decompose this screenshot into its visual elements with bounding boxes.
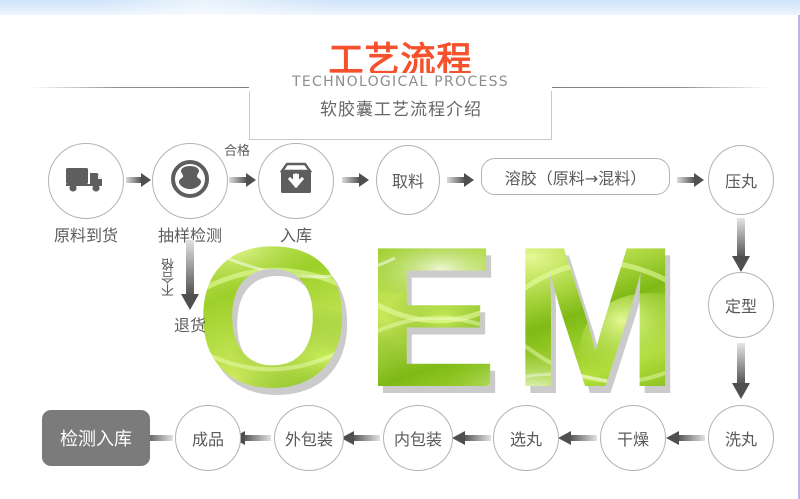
node-inspection-storage[interactable]: 检测入库 <box>42 410 150 466</box>
arrow-right-3 <box>342 172 370 188</box>
node-finished-product[interactable]: 成品 <box>175 405 241 471</box>
label-unqualified: 不合格 <box>160 258 179 297</box>
truck-icon <box>65 164 107 198</box>
node-inner-packaging[interactable]: 内包装 <box>383 405 453 471</box>
page-title-backdrop: 工艺流程 <box>249 32 552 76</box>
node-label-shaping: 定型 <box>725 293 757 317</box>
caption-raw-material-arrival: 原料到货 <box>28 222 144 246</box>
node-label-material-picking: 取料 <box>392 168 424 192</box>
node-label-finished-product: 成品 <box>192 426 224 450</box>
svg-text:OEM: OEM <box>200 228 695 410</box>
node-sampling-inspection[interactable] <box>152 143 228 219</box>
node-label-pellet-washing: 洗丸 <box>725 426 757 450</box>
node-pellet-pressing[interactable]: 压丸 <box>708 145 774 215</box>
top-decoration-band <box>0 0 800 15</box>
header-block: 工艺流程 TECHNOLOGICAL PROCESS 软胶囊工艺流程介绍 <box>0 15 800 133</box>
node-raw-material-arrival[interactable] <box>48 143 124 219</box>
arrow-right-1 <box>126 172 152 188</box>
node-shaping[interactable]: 定型 <box>708 272 774 338</box>
node-label-inner-packaging: 内包装 <box>394 426 442 450</box>
page-subtitle-chinese: 软胶囊工艺流程介绍 <box>276 99 526 121</box>
svg-text:OEM: OEM <box>195 228 693 410</box>
arrow-right-5 <box>677 172 705 188</box>
band-sheen <box>95 0 335 15</box>
arrow-down-2 <box>731 343 751 401</box>
oem-watermark: OEM OEM <box>195 228 695 410</box>
arrow-left-2 <box>557 430 597 446</box>
label-qualified: 合格 <box>224 140 250 159</box>
node-material-picking[interactable]: 取料 <box>376 145 440 215</box>
node-label-sol-gel: 溶胶（原料→混料） <box>505 165 646 189</box>
node-label-drying: 干燥 <box>617 426 649 450</box>
arrow-down-reject <box>180 240 200 312</box>
inbox-archive-icon <box>277 161 315 201</box>
node-label-outer-packaging: 外包装 <box>285 426 333 450</box>
node-drying[interactable]: 干燥 <box>600 405 666 471</box>
node-outer-packaging[interactable]: 外包装 <box>274 405 344 471</box>
arrow-left-3 <box>451 430 491 446</box>
node-label-inspection-storage: 检测入库 <box>60 425 132 451</box>
arrow-right-4 <box>447 172 475 188</box>
caption-warehouse-in: 入库 <box>256 222 336 246</box>
label-return-goods: 退货 <box>150 312 230 336</box>
sample-test-icon <box>170 159 210 203</box>
node-pellet-washing[interactable]: 洗丸 <box>708 405 774 471</box>
arrow-left-1 <box>665 430 705 446</box>
page-subtitle-english: TECHNOLOGICAL PROCESS <box>249 73 552 91</box>
node-warehouse-in[interactable] <box>258 143 334 219</box>
page-root: 工艺流程 TECHNOLOGICAL PROCESS 软胶囊工艺流程介绍 <box>0 0 800 499</box>
node-sol-gel[interactable]: 溶胶（原料→混料） <box>481 158 670 195</box>
arrow-right-2 <box>229 172 257 188</box>
node-pellet-sorting[interactable]: 选丸 <box>493 405 559 471</box>
arrow-left-4 <box>340 430 380 446</box>
arrow-down-1 <box>731 218 751 274</box>
node-label-pellet-sorting: 选丸 <box>510 426 542 450</box>
node-label-pellet-pressing: 压丸 <box>725 168 757 192</box>
